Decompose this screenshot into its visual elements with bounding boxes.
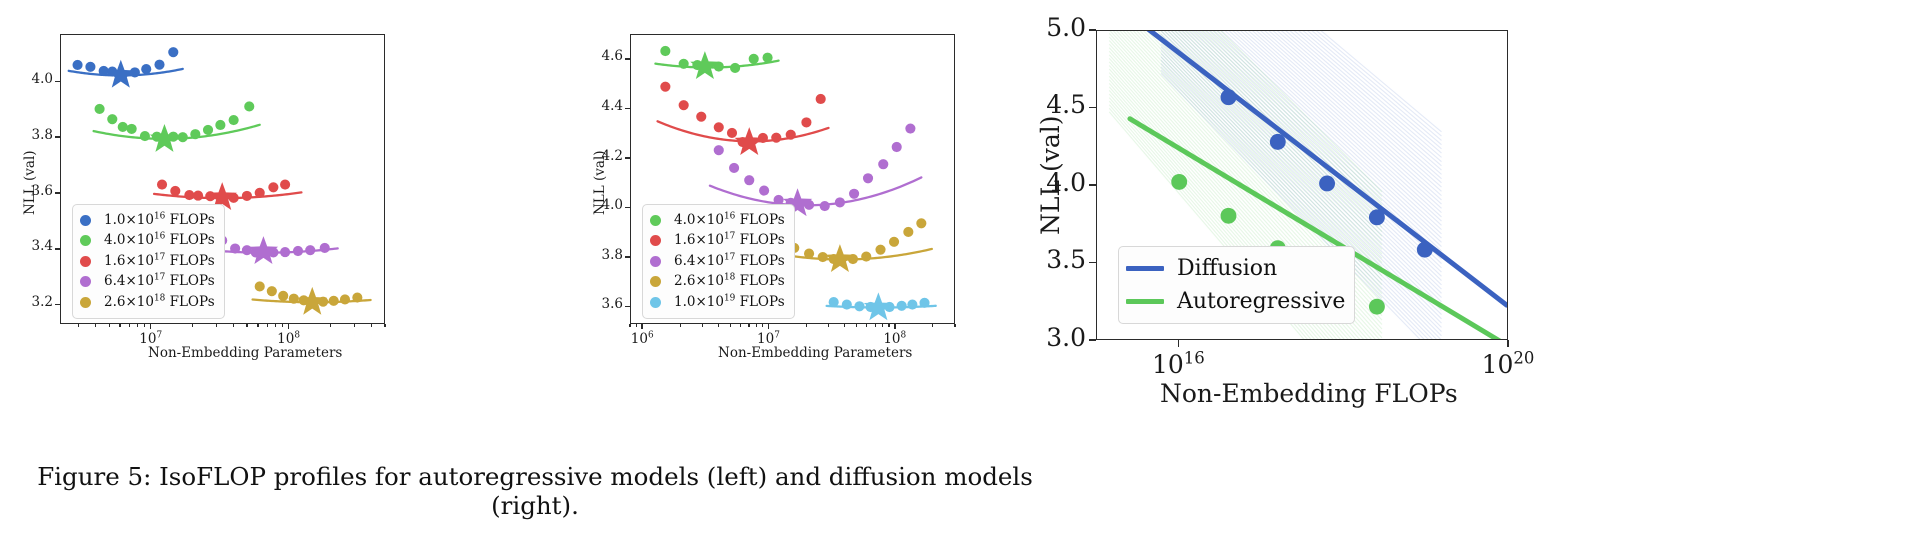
middle-y-tick-mark — [625, 58, 630, 60]
left-y-tick-label: 3.8 — [23, 129, 53, 143]
left-legend: 1.0×1016 FLOPs4.0×1016 FLOPs1.6×1017 FLO… — [72, 204, 225, 319]
left-legend-label: 6.4×1017 FLOPs — [104, 275, 215, 289]
left-x-minor-tick — [129, 324, 130, 327]
left-x-minor-tick — [119, 324, 120, 327]
middle-x-tick-label: 108 — [865, 333, 925, 347]
right-x-axis-title: Non-Embedding FLOPs — [1160, 381, 1458, 406]
left-legend-item[interactable]: 2.6×1018 FLOPs — [80, 292, 215, 313]
middle-x-minor-tick — [636, 324, 637, 327]
left-x-minor-tick — [192, 324, 193, 327]
left-y-tick-mark — [55, 192, 60, 194]
right-legend: DiffusionAutoregressive — [1118, 246, 1355, 324]
right-y-tick-label: 4.5 — [1030, 92, 1086, 117]
left-x-minor-tick — [109, 324, 110, 327]
legend-line-swatch-icon — [1126, 266, 1164, 271]
left-y-tick-mark — [55, 304, 60, 306]
middle-x-tick-label: 106 — [612, 333, 672, 347]
middle-x-minor-tick — [680, 324, 681, 327]
left-y-tick-label: 3.4 — [23, 240, 53, 254]
series-left-1 — [94, 101, 260, 151]
left-x-minor-tick — [137, 324, 138, 327]
middle-x-minor-tick — [844, 324, 845, 327]
left-x-minor-tick — [95, 324, 96, 327]
left-x-minor-tick — [267, 324, 268, 327]
middle-legend-label: 4.0×1016 FLOPs — [674, 214, 785, 228]
legend-marker-dot-icon — [650, 276, 661, 287]
right-y-tick-label: 3.5 — [1030, 247, 1086, 272]
middle-x-minor-tick — [932, 324, 933, 327]
legend-marker-dot-icon — [80, 235, 91, 246]
left-y-tick-label: 4.0 — [23, 73, 53, 87]
middle-x-minor-tick — [882, 324, 883, 327]
middle-x-minor-tick — [866, 324, 867, 327]
left-x-tick-label: 107 — [121, 333, 181, 347]
middle-legend-item[interactable]: 4.0×1016 FLOPs — [650, 210, 785, 231]
middle-y-tick-label: 4.0 — [593, 199, 623, 213]
left-legend-item[interactable]: 1.0×1016 FLOPs — [80, 210, 215, 231]
legend-marker-dot-icon — [80, 215, 91, 226]
right-x-tick-label: 1016 — [1148, 352, 1208, 377]
right-y-tick-label: 3.0 — [1030, 325, 1086, 350]
right-y-tick-mark — [1089, 262, 1096, 264]
right-legend-label: Diffusion — [1177, 258, 1277, 280]
middle-x-minor-tick — [718, 324, 719, 327]
middle-y-tick-label: 4.2 — [593, 150, 623, 164]
right-x-tick-label: 1020 — [1478, 352, 1538, 377]
left-x-axis-title: Non-Embedding Parameters — [148, 347, 342, 361]
legend-line-swatch-icon — [1126, 299, 1164, 304]
legend-marker-dot-icon — [650, 256, 661, 267]
right-legend-label: Autoregressive — [1177, 291, 1345, 313]
legend-marker-dot-icon — [650, 215, 661, 226]
left-x-minor-tick — [354, 324, 355, 327]
middle-y-tick-label: 3.6 — [593, 298, 623, 312]
left-y-tick-mark — [55, 248, 60, 250]
middle-x-minor-tick — [875, 324, 876, 327]
middle-x-minor-tick — [828, 324, 829, 327]
right-y-tick-mark — [1089, 339, 1096, 341]
left-x-minor-tick — [144, 324, 145, 327]
figure-caption: Figure 5: IsoFLOP profiles for autoregre… — [30, 462, 1040, 520]
legend-marker-dot-icon — [80, 256, 91, 267]
series-left-0 — [69, 47, 183, 87]
middle-x-minor-tick — [629, 324, 630, 327]
middle-y-tick-mark — [625, 108, 630, 110]
left-y-tick-label: 3.2 — [23, 296, 53, 310]
right-y-tick-label: 4.0 — [1030, 170, 1086, 195]
right-x-tick-mark — [1178, 340, 1180, 347]
middle-x-minor-tick — [730, 324, 731, 327]
middle-x-tick-mark — [641, 324, 643, 329]
figure-5: NLL (val) Non-Embedding Parameters 4.03.… — [0, 0, 1916, 546]
left-x-minor-tick — [330, 324, 331, 327]
right-y-tick-label: 5.0 — [1030, 15, 1086, 40]
middle-x-tick-mark — [768, 324, 770, 329]
left-legend-label: 1.0×1016 FLOPs — [104, 214, 215, 228]
series-middle-3 — [771, 218, 931, 272]
left-legend-item[interactable]: 6.4×1017 FLOPs — [80, 272, 215, 293]
right-y-tick-mark — [1089, 184, 1096, 186]
middle-x-minor-tick — [888, 324, 889, 327]
left-x-minor-tick — [246, 324, 247, 327]
middle-x-minor-tick — [762, 324, 763, 327]
middle-legend-item[interactable]: 1.0×1019 FLOPs — [650, 292, 785, 313]
left-x-tick-label: 108 — [259, 333, 319, 347]
middle-x-minor-tick — [806, 324, 807, 327]
left-x-minor-tick — [275, 324, 276, 327]
middle-x-minor-tick — [748, 324, 749, 327]
series-middle-1 — [658, 82, 829, 155]
right-legend-item[interactable]: Diffusion — [1126, 252, 1345, 285]
middle-x-tick-mark — [894, 324, 896, 329]
middle-x-minor-tick — [740, 324, 741, 327]
right-legend-item[interactable]: Autoregressive — [1126, 285, 1345, 318]
legend-marker-dot-icon — [650, 235, 661, 246]
right-x-tick-mark — [1507, 340, 1509, 347]
middle-x-axis-title: Non-Embedding Parameters — [718, 347, 912, 361]
middle-legend-item[interactable]: 1.6×1017 FLOPs — [650, 231, 785, 252]
left-legend-label: 1.6×1017 FLOPs — [104, 255, 215, 269]
middle-y-tick-mark — [625, 207, 630, 209]
left-x-tick-mark — [150, 324, 152, 329]
left-legend-label: 2.6×1018 FLOPs — [104, 296, 215, 310]
series-left-4 — [253, 281, 371, 314]
middle-legend-label: 2.6×1018 FLOPs — [674, 275, 785, 289]
left-x-minor-tick — [384, 324, 385, 327]
middle-legend-label: 6.4×1017 FLOPs — [674, 255, 785, 269]
middle-y-tick-mark — [625, 157, 630, 159]
left-legend-label: 4.0×1016 FLOPs — [104, 234, 215, 248]
left-x-tick-mark — [288, 324, 290, 329]
left-x-minor-tick — [371, 324, 372, 327]
left-x-minor-tick — [78, 324, 79, 327]
middle-x-minor-tick — [954, 324, 955, 327]
legend-marker-dot-icon — [650, 297, 661, 308]
middle-y-tick-mark — [625, 306, 630, 308]
middle-legend-item[interactable]: 6.4×1017 FLOPs — [650, 251, 785, 272]
left-x-minor-tick — [233, 324, 234, 327]
series-middle-0 — [655, 46, 778, 79]
middle-x-tick-label: 107 — [738, 333, 798, 347]
right-y-tick-mark — [1089, 29, 1096, 31]
legend-marker-dot-icon — [80, 297, 91, 308]
middle-y-tick-label: 3.8 — [593, 249, 623, 263]
right-y-tick-mark — [1089, 107, 1096, 109]
middle-legend-label: 1.0×1019 FLOPs — [674, 296, 785, 310]
middle-y-tick-mark — [625, 256, 630, 258]
left-legend-item[interactable]: 1.6×1017 FLOPs — [80, 251, 215, 272]
middle-x-minor-tick — [756, 324, 757, 327]
middle-y-tick-label: 4.6 — [593, 50, 623, 64]
left-y-tick-mark — [55, 81, 60, 83]
left-x-minor-tick — [216, 324, 217, 327]
middle-x-minor-tick — [702, 324, 703, 327]
middle-y-tick-label: 4.4 — [593, 100, 623, 114]
left-legend-item[interactable]: 4.0×1016 FLOPs — [80, 231, 215, 252]
left-y-tick-label: 3.6 — [23, 185, 53, 199]
middle-legend-item[interactable]: 2.6×1018 FLOPs — [650, 272, 785, 293]
legend-marker-dot-icon — [80, 276, 91, 287]
middle-x-minor-tick — [856, 324, 857, 327]
left-x-minor-tick — [282, 324, 283, 327]
left-y-tick-mark — [55, 136, 60, 138]
middle-legend-label: 1.6×1017 FLOPs — [674, 234, 785, 248]
left-x-minor-tick — [257, 324, 258, 327]
middle-legend: 4.0×1016 FLOPs1.6×1017 FLOPs6.4×1017 FLO… — [642, 204, 795, 319]
series-middle-4 — [827, 292, 936, 320]
